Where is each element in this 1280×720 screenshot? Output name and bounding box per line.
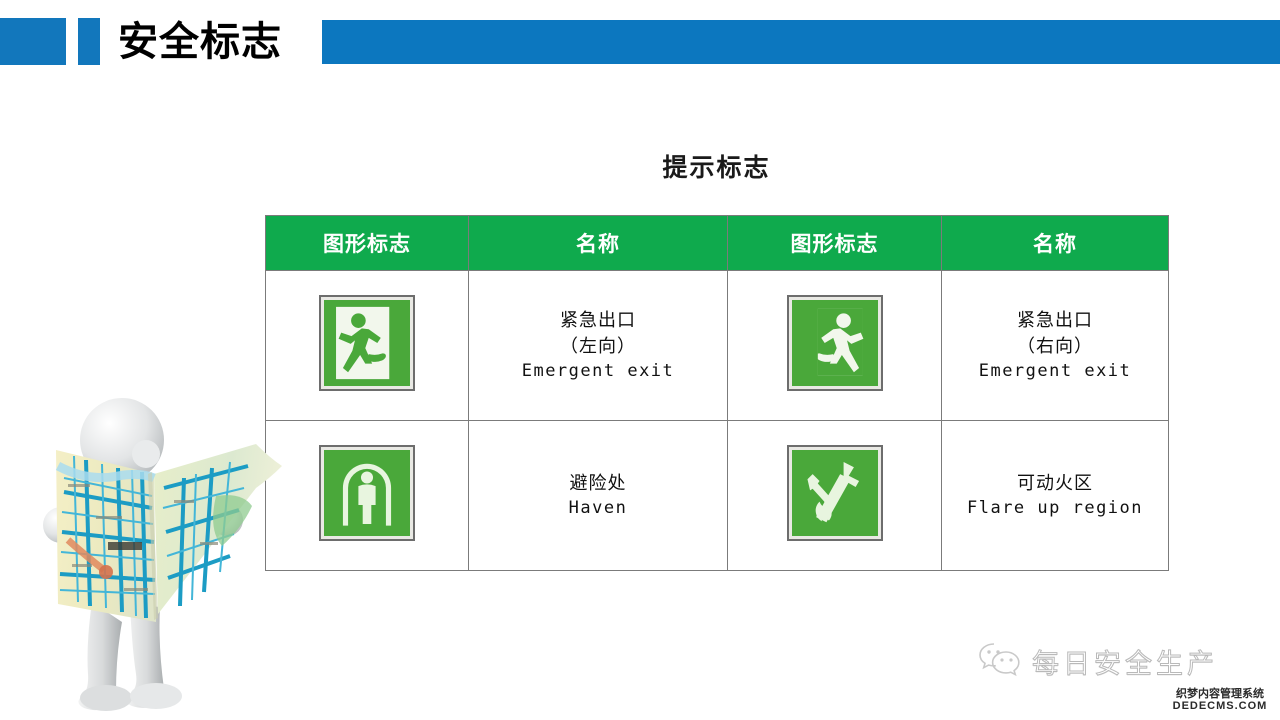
sign-name-cn-sub: （左向） [470,333,726,359]
wechat-watermark-text: 每日安全生产 [1032,642,1218,681]
header-accent-block-small [78,18,100,65]
sign-name-cell: 避险处 Haven [469,421,728,571]
sign-icon-cell [266,421,469,571]
sign-name-en: Flare up region [943,496,1167,522]
page-header: 安全标志 [0,0,1280,90]
sign-name-cell: 可动火区 Flare up region [942,421,1169,571]
flare-up-region-icon [787,445,883,541]
column-header-name-2: 名称 [942,216,1169,271]
column-header-name-1: 名称 [469,216,728,271]
sign-icon-cell [728,421,942,571]
wechat-watermark: 每日安全生产 [978,638,1218,684]
sign-name-cn: 可动火区 [943,470,1167,496]
page-title: 安全标志 [118,12,318,72]
dedecms-watermark: 织梦内容管理系统 DEDECMS.COM [1162,688,1278,713]
emergency-exit-left-icon [319,295,415,391]
section-title: 提示标志 [265,148,1168,184]
sign-name-cn-sub: （右向） [943,333,1167,359]
header-accent-block-large [0,18,66,65]
emergency-exit-right-icon [787,295,883,391]
sign-name-en: Haven [470,496,726,522]
column-header-graphic-1: 图形标志 [266,216,469,271]
sign-name-cell: 紧急出口 （左向） Emergent exit [469,271,728,421]
dedecms-watermark-en: DEDECMS.COM [1162,700,1278,713]
sign-name-cn: 紧急出口 [470,307,726,333]
sign-name-en: Emergent exit [470,359,726,385]
sign-name-cn: 紧急出口 [943,307,1167,333]
table-row: 避险处 Haven 可动火区 [266,421,1169,571]
header-blue-bar [322,20,1280,64]
haven-shelter-icon [319,445,415,541]
safety-sign-table: 图形标志 名称 图形标志 名称 [265,215,1169,571]
table-header-row: 图形标志 名称 图形标志 名称 [266,216,1169,271]
column-header-graphic-2: 图形标志 [728,216,942,271]
sign-name-cn: 避险处 [470,470,726,496]
dedecms-watermark-cn: 织梦内容管理系统 [1162,688,1278,700]
sign-name-en: Emergent exit [943,359,1167,385]
table-row: 紧急出口 （左向） Emergent exit [266,271,1169,421]
sign-icon-cell [266,271,469,421]
sign-name-cell: 紧急出口 （右向） Emergent exit [942,271,1169,421]
wechat-icon [978,641,1022,682]
3d-person-holding-map [34,392,284,718]
sign-icon-cell [728,271,942,421]
